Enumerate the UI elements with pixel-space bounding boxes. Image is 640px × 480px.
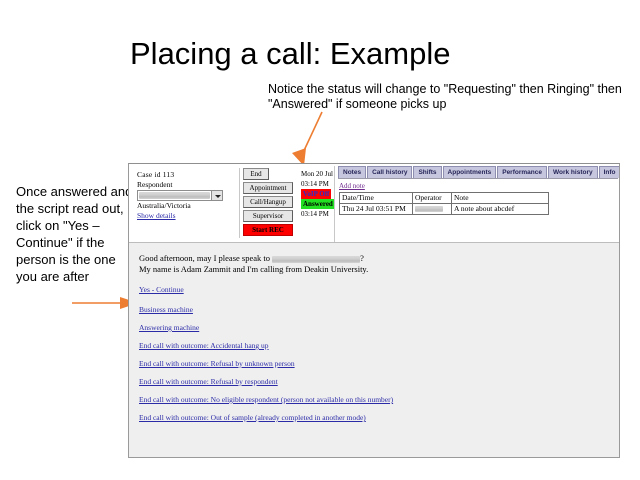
tab-info[interactable]: Info (599, 166, 620, 178)
notes-table: Date/Time Operator Note Thu 24 Jul 03:51… (339, 192, 549, 215)
script-greeting-text: Good afternoon, may I please speak to (139, 253, 272, 263)
note-datetime: Thu 24 Jul 03:51 PM (340, 204, 413, 215)
call-centre-app-screenshot: Case id 113 Respondent Australia/Victori… (128, 163, 620, 458)
timezone-label: Australia/Victoria (137, 201, 235, 211)
respondent-value-redacted (139, 192, 210, 199)
start-rec-button[interactable]: Start REC (243, 224, 293, 236)
end-button[interactable]: End (243, 168, 269, 180)
call-hangup-button[interactable]: Call/Hangup (243, 196, 293, 208)
note-operator (413, 204, 452, 215)
outcome-out-of-sample-link[interactable]: End call with outcome: Out of sample (al… (139, 413, 366, 422)
tab-strip: Notes Call history Shifts Appointments P… (338, 166, 618, 179)
notes-col-datetime: Date/Time (340, 193, 413, 204)
outcome-no-eligible-respondent-link[interactable]: End call with outcome: No eligible respo… (139, 395, 393, 404)
page-title: Placing a call: Example (130, 36, 630, 72)
outcome-yes-continue-link[interactable]: Yes - Continue (139, 285, 184, 294)
script-greeting-qmark: ? (360, 253, 364, 263)
outcome-business-machine-link[interactable]: Business machine (139, 305, 193, 314)
respondent-name-redacted (272, 256, 360, 263)
appointment-button[interactable]: Appointment (243, 182, 293, 194)
script-panel: Good afternoon, may I please speak to ? … (129, 243, 619, 458)
case-id-label: Case id 113 (137, 170, 235, 180)
script-line-2: My name is Adam Zammit and I'm calling f… (139, 264, 619, 275)
notes-col-note: Note (452, 193, 549, 204)
respondent-label: Respondent (137, 180, 235, 190)
outcome-accidental-hangup-link[interactable]: End call with outcome: Accidental hang u… (139, 341, 269, 350)
voip-status-badge: VoIP Off (301, 189, 331, 199)
show-details-link[interactable]: Show details (137, 211, 235, 220)
outcome-answering-machine-link[interactable]: Answering machine (139, 323, 199, 332)
tab-performance[interactable]: Performance (497, 166, 547, 178)
call-action-buttons: End Appointment Call/Hangup Supervisor S… (239, 168, 297, 238)
script-line-1: Good afternoon, may I please speak to ? (139, 253, 619, 264)
callout-status-note: Notice the status will change to "Reques… (268, 82, 638, 112)
respondent-select[interactable] (137, 190, 223, 201)
table-row: Thu 24 Jul 03:51 PM A note about abcdef (340, 204, 549, 215)
app-header-strip: Case id 113 Respondent Australia/Victori… (129, 164, 619, 243)
outcome-link-list: Yes - Continue Business machine Answerin… (139, 285, 619, 422)
supervisor-button[interactable]: Supervisor (243, 210, 293, 222)
add-note-link[interactable]: Add note (339, 182, 365, 190)
outcome-refusal-unknown-person-link[interactable]: End call with outcome: Refusal by unknow… (139, 359, 295, 368)
tab-notes[interactable]: Notes (338, 166, 366, 178)
tab-pane: Notes Call history Shifts Appointments P… (334, 166, 618, 242)
tab-shifts[interactable]: Shifts (413, 166, 441, 178)
tab-work-history[interactable]: Work history (548, 166, 598, 178)
notes-col-operator: Operator (413, 193, 452, 204)
chevron-down-icon (211, 191, 222, 200)
tab-call-history[interactable]: Call history (367, 166, 412, 178)
notes-table-header-row: Date/Time Operator Note (340, 193, 549, 204)
note-text: A note about abcdef (452, 204, 549, 215)
case-details-panel: Case id 113 Respondent Australia/Victori… (137, 170, 235, 220)
outcome-refusal-respondent-link[interactable]: End call with outcome: Refusal by respon… (139, 377, 278, 386)
callout-continue-note: Once answered and the script read out, c… (16, 183, 136, 285)
tab-appointments[interactable]: Appointments (443, 166, 497, 178)
call-state-badge: Answered (301, 199, 335, 209)
